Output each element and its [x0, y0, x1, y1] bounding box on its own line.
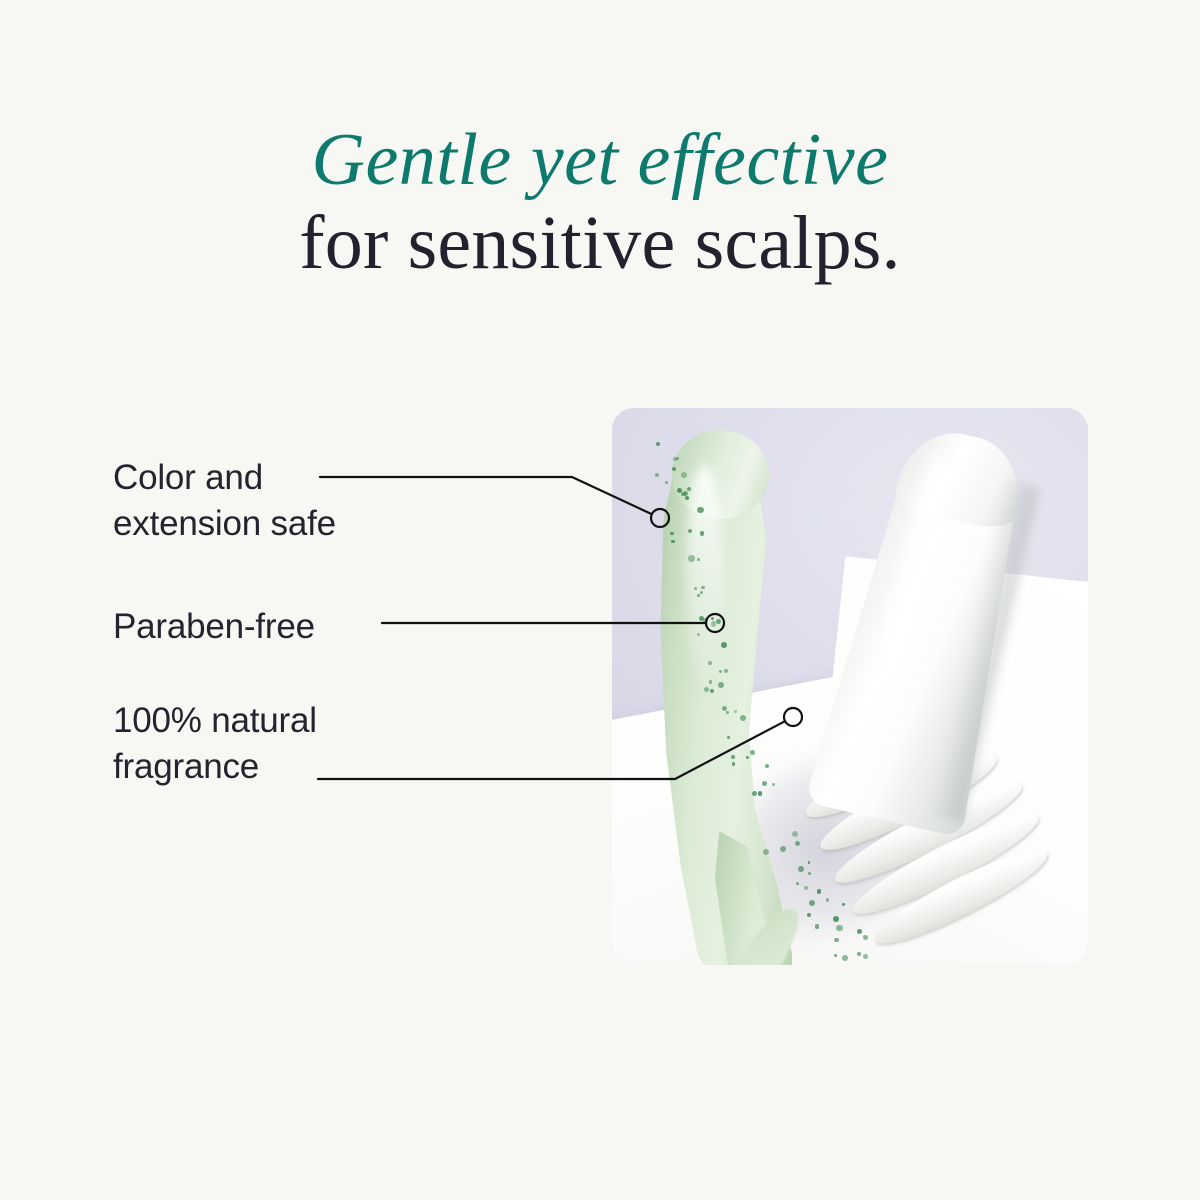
exfoliating-bead — [700, 531, 704, 535]
exfoliating-bead — [762, 781, 767, 786]
exfoliating-bead — [807, 913, 811, 917]
exfoliating-bead — [826, 898, 830, 902]
exfoliating-bead — [670, 532, 673, 535]
exfoliating-bead — [681, 472, 687, 478]
exfoliating-bead — [697, 633, 699, 635]
exfoliating-bead — [710, 689, 714, 693]
exfoliating-bead — [834, 938, 839, 943]
exfoliating-bead — [709, 680, 713, 684]
exfoliating-bead — [716, 619, 721, 624]
callout-label-color-and-extension-safe: Color and extension safe — [113, 455, 336, 547]
exfoliating-bead — [711, 621, 716, 626]
exfoliating-bead — [722, 706, 727, 711]
exfoliating-bead — [656, 442, 660, 446]
exfoliating-bead — [732, 762, 735, 765]
exfoliating-bead — [808, 872, 811, 875]
exfoliating-bead — [721, 642, 727, 648]
exfoliating-bead — [703, 618, 707, 622]
product-photo-scene — [612, 408, 1088, 965]
exfoliating-bead — [763, 849, 769, 855]
exfoliating-bead — [655, 473, 659, 477]
exfoliating-bead — [833, 916, 839, 922]
exfoliating-bead — [685, 496, 689, 500]
callout-label-100-percent-natural-fragrance: 100% natural fragrance — [113, 698, 317, 790]
exfoliating-bead — [750, 750, 755, 755]
product-photo — [612, 408, 1088, 965]
exfoliating-bead — [671, 540, 674, 543]
green-gel — [655, 441, 798, 965]
exfoliating-bead — [726, 711, 728, 713]
callout-label-paraben-free: Paraben-free — [113, 604, 315, 650]
exfoliating-bead — [817, 889, 822, 894]
exfoliating-bead — [798, 866, 804, 872]
exfoliating-bead — [708, 661, 712, 665]
exfoliating-bead — [731, 755, 735, 759]
exfoliating-bead — [697, 507, 703, 513]
exfoliating-bead — [665, 481, 668, 484]
exfoliating-bead — [740, 715, 746, 721]
exfoliating-bead — [688, 555, 694, 561]
exfoliating-bead — [694, 587, 697, 590]
